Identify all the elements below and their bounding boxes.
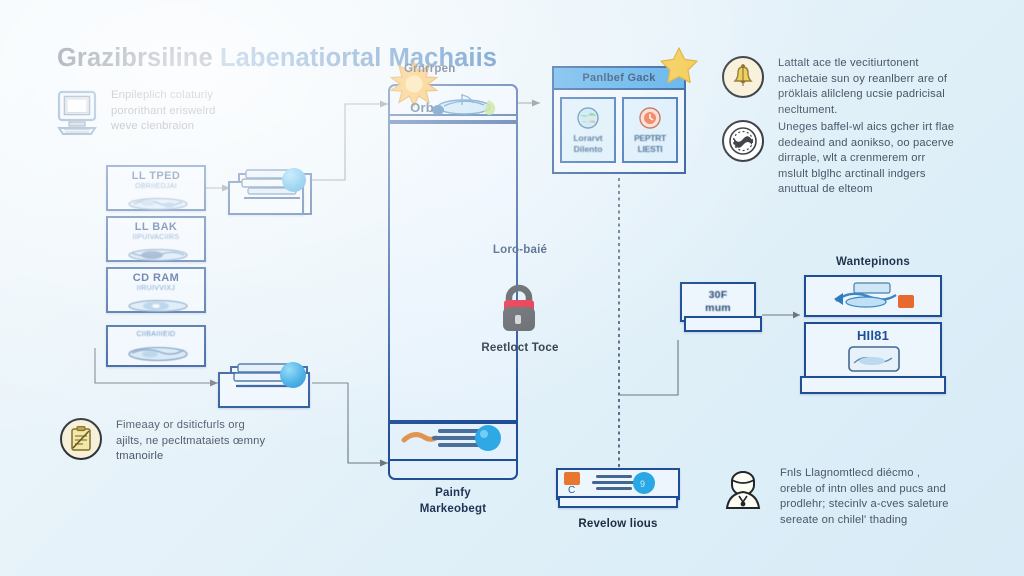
rb2-line-5: anuttual de elteom — [778, 182, 954, 198]
center-bottom-art — [398, 422, 514, 456]
diagram-canvas: Grazibrsiline Labenatiortal Machaiis Enp… — [0, 0, 1024, 576]
intro-line-1: Enpileplich colaturiy — [111, 88, 216, 104]
rb1-line-1: Lattalt ace tle vecitiurtonent — [778, 56, 947, 72]
center-column-top-caption: Grnrrpen — [404, 63, 534, 75]
intro-block: Enpileplich colaturiy pororithant eriswe… — [56, 88, 306, 136]
rb2-line-1: Uneges baffel-wl aics gcher irt flae — [778, 120, 954, 136]
left-node-3-sub: IIRUIVVIXJ — [108, 285, 204, 292]
right-panel-inner-art — [848, 346, 900, 372]
center-column-inner-label: Orb — [392, 100, 452, 115]
top-panel-card-1-line1: Lorarvt — [573, 133, 602, 144]
intro-text: Enpileplich colaturiy pororithant eriswe… — [111, 88, 216, 136]
upper-stack-box[interactable] — [228, 163, 312, 215]
lower-stack-box[interactable] — [218, 358, 314, 410]
top-panel-card-1[interactable]: Lorarvt Dilento — [560, 97, 616, 163]
left-node-2-sub: IIPUIVACIIRS — [108, 234, 204, 241]
blue-orb-badge — [282, 168, 306, 192]
user-icon — [720, 466, 766, 514]
right-panel-top-art — [832, 281, 924, 315]
device-smudge-icon — [126, 195, 190, 211]
top-panel-card-2[interactable]: PEPTRT LIESTI — [622, 97, 678, 163]
rb2-line-2: dedeaind and aonikso, oo pacerve — [778, 136, 954, 152]
left-node-3-label: CD RAM — [108, 272, 204, 284]
right-panel-caption: Wantepinons — [800, 256, 946, 268]
rb2-line-3: dirraple, wlt a crenmerem orr — [778, 151, 954, 167]
bell-icon — [722, 56, 764, 98]
br-line-2: oreble of intn olles and pucs and — [780, 482, 949, 498]
right-small-box-line1: 30F — [680, 289, 756, 301]
rb2-line-4: mslult blglhc arctinall indgers — [778, 167, 954, 183]
star-icon — [659, 46, 699, 84]
globe-icon — [576, 106, 600, 130]
right-small-box[interactable]: 30F mum — [680, 282, 766, 340]
left-node-1-label: LL TPED — [108, 170, 204, 182]
bottom-center-caption: Revelow lious — [548, 518, 688, 530]
right-text-block-1: Lattalt ace tle vecitiurtonent nachetaie… — [722, 56, 982, 118]
top-panel-card-1-line2: Dilento — [573, 144, 602, 155]
right-small-box-line2: mum — [680, 302, 756, 314]
bl-line-3: tmanoirle — [116, 449, 265, 465]
right-panel-inner-label: HIl81 — [804, 328, 942, 343]
monitor-icon — [56, 88, 98, 136]
bottom-left-text: Fimeaay or dsiticfurls org ajilts, ne pe… — [116, 418, 265, 465]
center-column-caption-2: Markeobegt — [388, 503, 518, 515]
bl-line-2: ajilts, ne pecltmataiets œmny — [116, 434, 265, 450]
left-node-box-1[interactable]: LL TPED OBRIIEDJAI — [106, 165, 206, 211]
left-node-2-label: LL BAK — [108, 221, 204, 233]
right-block-2-text: Uneges baffel-wl aics gcher irt flae ded… — [778, 120, 954, 198]
svg-text:9: 9 — [640, 479, 645, 489]
left-node-4-sub: CIIBAIIIEID — [108, 331, 204, 338]
bl-line-1: Fimeaay or dsiticfurls org — [116, 418, 265, 434]
blue-orb-badge — [280, 362, 306, 388]
rb1-line-2: nachetaie sun oy reanlberr are of — [778, 72, 947, 88]
intro-line-3: weve clenbraion — [111, 119, 216, 135]
bottom-center-art: 9 C — [562, 470, 674, 498]
top-panel-card-2-line2: LIESTI — [634, 144, 666, 155]
right-block-1-text: Lattalt ace tle vecitiurtonent nachetaie… — [778, 56, 947, 118]
bottom-right-text: Fnls Llagnomtlecd diécmo , oreble of int… — [780, 466, 949, 528]
device-smudge-icon — [126, 246, 190, 262]
lock-caption-above: Loro-baié — [455, 244, 585, 256]
bottom-center-panel[interactable]: 9 C — [556, 468, 680, 512]
br-line-1: Fnls Llagnomtlecd diécmo , — [780, 466, 949, 482]
right-panel-bottom[interactable]: HIl81 — [800, 322, 946, 394]
lock-caption-below: Reetloct Toce — [450, 342, 590, 354]
left-node-box-2[interactable]: LL BAK IIPUIVACIIRS — [106, 216, 206, 262]
padlock-icon — [495, 282, 543, 334]
rb1-line-3: pröklais alilcleng ucsie padricisal — [778, 87, 947, 103]
page-title-primary: Grazibrsiline — [57, 44, 213, 72]
top-panel-card-2-line1: PEPTRT — [634, 133, 666, 144]
intro-line-2: pororithant eriswelrd — [111, 104, 216, 120]
device-smudge-icon — [126, 297, 190, 313]
left-node-1-sub: OBRIIEDJAI — [108, 183, 204, 190]
center-column-caption-1: Painfy — [388, 487, 518, 499]
svg-text:C: C — [568, 485, 575, 496]
rb1-line-4: necltument. — [778, 103, 947, 119]
left-node-box-4[interactable]: CIIBAIIIEID — [106, 325, 206, 367]
clipboard-icon — [60, 418, 102, 460]
left-node-box-3[interactable]: CD RAM IIRUIVVIXJ — [106, 267, 206, 313]
br-line-3: prodlehr; stecinlv a-cves saleture — [780, 497, 949, 513]
gear-clock-icon — [722, 120, 764, 162]
bottom-right-block: Fnls Llagnomtlecd diécmo , oreble of int… — [720, 466, 986, 528]
device-smudge-icon — [126, 343, 190, 363]
bottom-left-block: Fimeaay or dsiticfurls org ajilts, ne pe… — [60, 418, 300, 465]
right-panel-top[interactable] — [804, 275, 942, 317]
clock-icon — [638, 106, 662, 130]
right-text-block-2: Uneges baffel-wl aics gcher irt flae ded… — [722, 120, 984, 198]
br-line-4: sereate on chilel' thading — [780, 513, 949, 529]
